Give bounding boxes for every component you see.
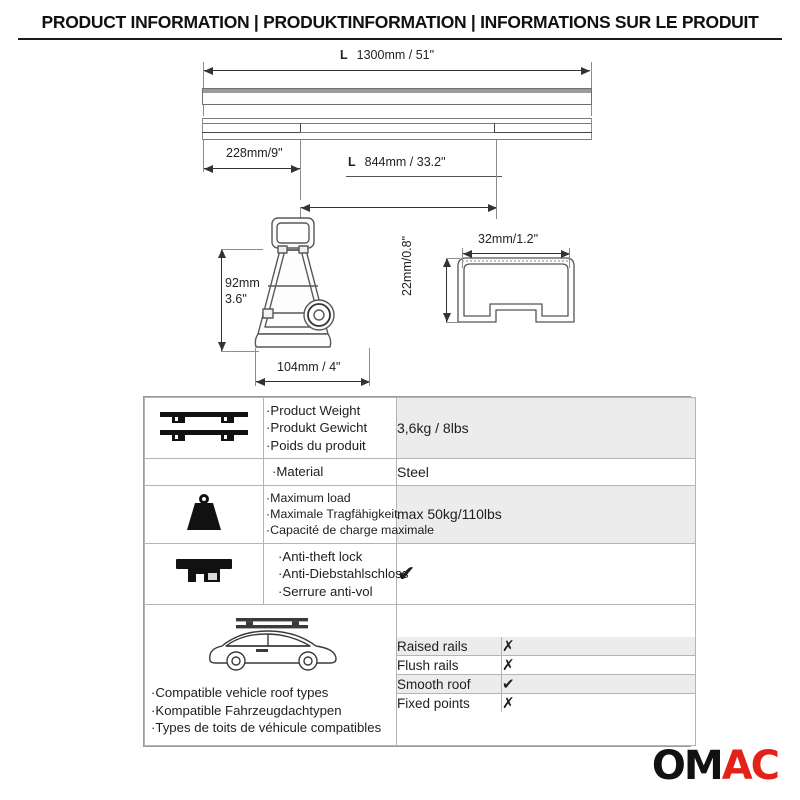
roof-types-label-cell: ·Compatible vehicle roof types ·Kompatib… xyxy=(145,605,397,746)
foot-width-value: 104mm / 4" xyxy=(277,360,341,374)
material-value: Steel xyxy=(397,464,429,480)
roof-types-labels: ·Compatible vehicle roof types ·Kompatib… xyxy=(145,678,396,745)
material-labels: ·Material xyxy=(264,459,396,484)
roof-type-mark-cell: ✗ xyxy=(502,637,696,656)
foot-width-label: 104mm / 4" xyxy=(277,360,341,374)
section-height-label: 22mm/0.8" xyxy=(400,236,414,296)
label-de: ·Anti-Diebstahlschloss xyxy=(278,565,392,582)
span-length-value: 844mm / 33.2" xyxy=(365,155,446,169)
table-row: ·Material Steel xyxy=(145,459,696,485)
roof-type-row: Smooth roof ✔ xyxy=(397,675,695,694)
anti-theft-value-cell: ✔ xyxy=(397,543,696,604)
roof-type-row: Raised rails ✗ xyxy=(397,637,695,656)
title-divider xyxy=(18,38,782,40)
label-en: ·Compatible vehicle roof types xyxy=(151,684,388,702)
section-width-ext-left xyxy=(462,248,463,268)
leader-line-right xyxy=(496,207,497,219)
label-en: ·Material xyxy=(272,463,392,480)
overall-length-symbol: L xyxy=(340,48,348,62)
specification-table: ·Product Weight ·Produkt Gewicht ·Poids … xyxy=(143,396,691,747)
span-length-ext-right xyxy=(496,140,497,208)
foot-height-ext-top xyxy=(221,249,263,250)
page-title: PRODUCT INFORMATION | PRODUKTINFORMATION… xyxy=(0,12,800,33)
table-row: ·Compatible vehicle roof types ·Kompatib… xyxy=(145,605,696,746)
overall-length-value: 1300mm / 51" xyxy=(357,48,434,62)
roof-types-list-cell: Raised rails ✗ Flush rails ✗ xyxy=(397,605,696,746)
end-offset-ext-left xyxy=(203,140,204,172)
table-row: ·Maximum load ·Maximale Tragfähigkeit ·C… xyxy=(145,485,696,543)
material-value-cell: Steel xyxy=(397,459,696,485)
max-load-value: max 50kg/110lbs xyxy=(397,506,502,522)
max-load-labels: ·Maximum load ·Maximale Tragfähigkeit ·C… xyxy=(264,486,396,543)
section-width-value: 32mm/1.2" xyxy=(478,232,538,246)
roof-type-mark: ✔ xyxy=(502,676,515,693)
car-with-roofrack-icon xyxy=(196,613,346,675)
material-label-cell: ·Material xyxy=(264,459,397,485)
label-fr: ·Serrure anti-vol xyxy=(278,583,392,600)
foot-height-dimension-arrow xyxy=(221,249,222,351)
label-en: ·Maximum load xyxy=(266,490,392,506)
max-load-icon-cell xyxy=(145,485,264,543)
span-length-symbol: L xyxy=(348,155,356,169)
end-offset-value: 228mm/9" xyxy=(226,146,283,160)
end-offset-ext-right xyxy=(300,140,301,200)
product-weight-value: 3,6kg / 8lbs xyxy=(397,420,469,436)
roof-type-mark-cell: ✗ xyxy=(502,694,696,713)
end-offset-dimension-arrow xyxy=(204,168,300,169)
anti-theft-label-cell: ·Anti-theft lock ·Anti-Diebstahlschloss … xyxy=(264,543,397,604)
section-width-ext-right xyxy=(569,248,570,268)
label-en: ·Anti-theft lock xyxy=(278,548,392,565)
table-row: ·Product Weight ·Produkt Gewicht ·Poids … xyxy=(145,398,696,459)
anti-theft-checkmark: ✔ xyxy=(397,561,415,586)
product-weight-icon-cell xyxy=(145,398,264,459)
overall-length-label: L1300mm / 51" xyxy=(340,48,434,62)
weight-icon xyxy=(181,492,227,534)
roof-type-mark-cell: ✗ xyxy=(502,656,696,675)
product-weight-labels: ·Product Weight ·Produkt Gewicht ·Poids … xyxy=(264,398,396,458)
label-fr: ·Poids du produit xyxy=(266,437,392,454)
span-length-underline xyxy=(346,176,502,177)
end-offset-label: 228mm/9" xyxy=(226,146,283,160)
material-icon-cell xyxy=(145,459,264,485)
span-length-label: L844mm / 33.2" xyxy=(348,155,446,169)
foot-height-mm: 92mm xyxy=(225,276,260,292)
crossbar-profile-top xyxy=(202,88,592,105)
anti-theft-labels: ·Anti-theft lock ·Anti-Diebstahlschloss … xyxy=(264,544,396,604)
label-de: ·Kompatible Fahrzeugdachtypen xyxy=(151,702,388,720)
foot-width-ext-right xyxy=(369,348,370,386)
roof-type-row: Fixed points ✗ xyxy=(397,694,695,713)
section-width-dimension-arrow xyxy=(463,253,570,254)
roof-type-mark: ✗ xyxy=(502,695,515,712)
roof-type-name: Raised rails xyxy=(397,637,502,656)
foot-height-label: 92mm 3.6" xyxy=(225,276,260,307)
section-height-ext-top xyxy=(446,258,460,259)
rail-cross-section-drawing xyxy=(452,252,584,336)
lock-icon xyxy=(174,555,234,589)
omac-logo: OMAC xyxy=(652,746,778,786)
logo-part-ac: AC xyxy=(722,743,778,789)
table-row: ·Anti-theft lock ·Anti-Diebstahlschloss … xyxy=(145,543,696,604)
label-de: ·Maximale Tragfähigkeit xyxy=(266,506,392,522)
product-weight-value-cell: 3,6kg / 8lbs xyxy=(397,398,696,459)
roof-icon-wrap xyxy=(145,605,396,678)
crossbars-icon xyxy=(158,407,250,447)
span-length-dimension-arrow xyxy=(301,207,497,208)
overall-length-dimension-arrow xyxy=(204,70,590,71)
roof-type-mark-cell: ✔ xyxy=(502,675,696,694)
foot-width-dimension-arrow xyxy=(256,381,370,382)
section-height-value: 22mm/0.8" xyxy=(400,236,414,296)
roof-type-name: Flush rails xyxy=(397,656,502,675)
product-information-sheet: PRODUCT INFORMATION | PRODUKTINFORMATION… xyxy=(0,0,800,800)
foot-height-ext-bottom xyxy=(221,351,259,352)
product-weight-label-cell: ·Product Weight ·Produkt Gewicht ·Poids … xyxy=(264,398,397,459)
label-de: ·Produkt Gewicht xyxy=(266,419,392,436)
label-en: ·Product Weight xyxy=(266,402,392,419)
foot-width-ext-left xyxy=(255,348,256,386)
section-width-label: 32mm/1.2" xyxy=(478,232,538,246)
max-load-label-cell: ·Maximum load ·Maximale Tragfähigkeit ·C… xyxy=(264,485,397,543)
label-fr: ·Types de toits de véhicule compatibles xyxy=(151,719,388,737)
roof-type-name: Smooth roof xyxy=(397,675,502,694)
section-height-ext-bottom xyxy=(446,322,460,323)
page-title-text: PRODUCT INFORMATION | PRODUKTINFORMATION… xyxy=(42,12,759,32)
roof-type-mark: ✗ xyxy=(502,638,515,655)
section-height-dimension-arrow xyxy=(446,258,447,322)
anti-theft-icon-cell xyxy=(145,543,264,604)
roof-type-mark: ✗ xyxy=(502,657,515,674)
roof-type-row: Flush rails ✗ xyxy=(397,656,695,675)
crossbar-profile-side xyxy=(202,118,592,140)
logo-part-om: OM xyxy=(652,743,722,789)
max-load-value-cell: max 50kg/110lbs xyxy=(397,485,696,543)
foot-height-in: 3.6" xyxy=(225,292,260,308)
roof-type-name: Fixed points xyxy=(397,694,502,713)
label-fr: ·Capacité de charge maximale xyxy=(266,522,392,538)
